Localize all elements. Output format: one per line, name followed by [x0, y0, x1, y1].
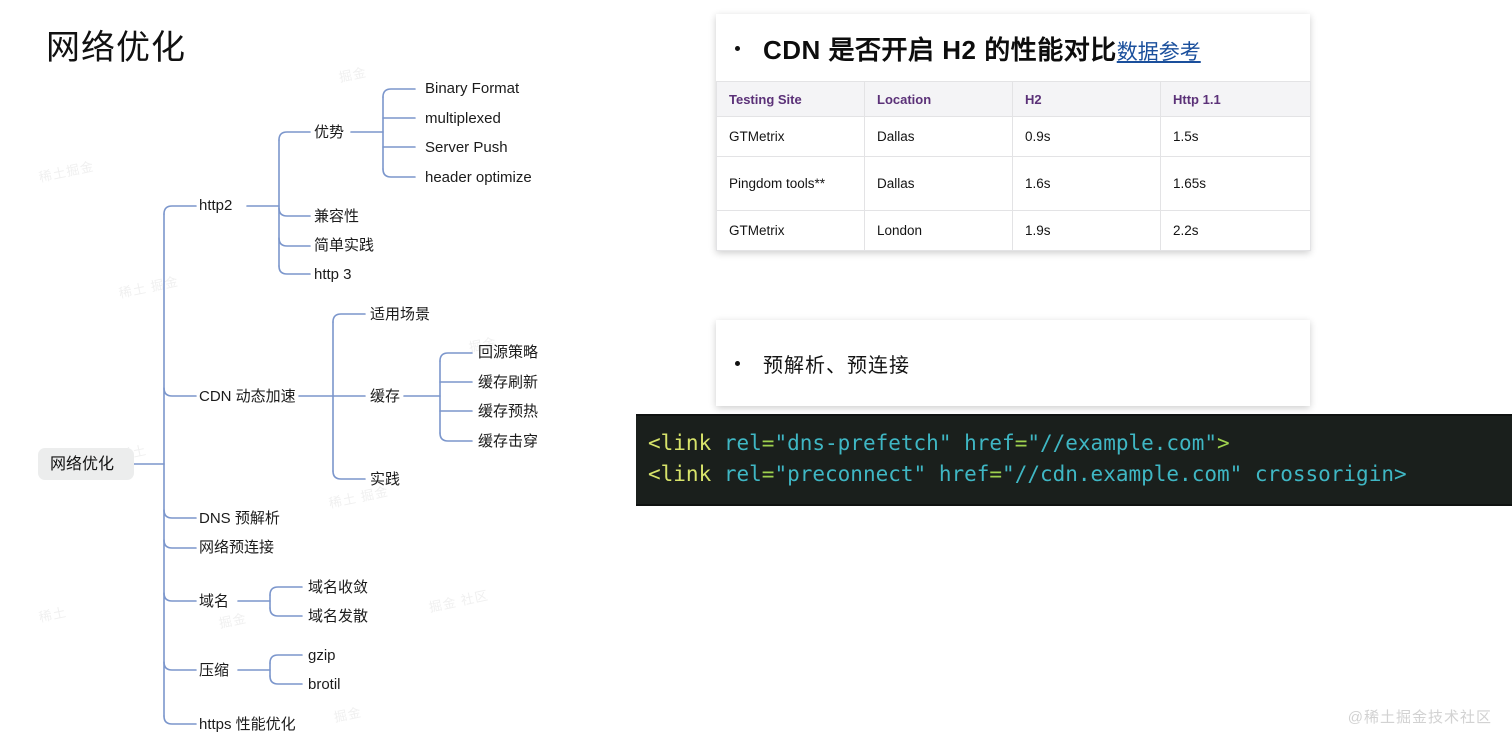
mindmap-node-gzip[interactable]: gzip	[308, 647, 336, 664]
mindmap-node-cdn[interactable]: CDN 动态加速	[199, 388, 296, 405]
mindmap-node-cache-refresh[interactable]: 缓存刷新	[478, 374, 538, 391]
prefetch-card-heading: 预解析、预连接	[716, 320, 1310, 406]
watermark-text: 掘金 社区	[428, 588, 490, 615]
mindmap-node-compatibility[interactable]: 兼容性	[314, 208, 359, 225]
code-token-string: "dns-prefetch"	[774, 431, 951, 455]
table-cell-location: Dallas	[865, 117, 1013, 157]
mindmap-edge	[383, 169, 415, 177]
cdn-card-heading: CDN 是否开启 H2 的性能对比数据参考	[716, 14, 1310, 81]
mindmap-node-http2[interactable]: http2	[199, 197, 232, 214]
data-reference-link[interactable]: 数据参考	[1117, 41, 1201, 64]
mindmap-node-binary-format[interactable]: Binary Format	[425, 80, 520, 97]
code-token-attr: href	[951, 431, 1014, 455]
table-cell-h2: 1.9s	[1013, 211, 1161, 251]
bullet-dot-icon	[735, 361, 740, 366]
code-token-string: "//cdn.example.com"	[1002, 462, 1242, 486]
mindmap-edge	[164, 510, 196, 518]
table-cell-location: Dallas	[865, 157, 1013, 211]
mindmap-node-domain[interactable]: 域名	[199, 593, 229, 610]
mindmap-pane: 网络优化 稀土掘金 稀土 掘金 掘金 稀土 掘金 稀土 掘金 掘金 社区 掘金 …	[0, 0, 640, 741]
cdn-card-heading-text: CDN 是否开启 H2 的性能对比数据参考	[763, 30, 1201, 67]
cdn-comparison-card: CDN 是否开启 H2 的性能对比数据参考 Testing Site Locat…	[716, 14, 1310, 251]
table-cell-http11: 2.2s	[1161, 211, 1311, 251]
mindmap-diagram: 稀土掘金 稀土 掘金 掘金 稀土 掘金 稀土 掘金 掘金 社区 掘金 稀土 掘金	[0, 0, 640, 741]
code-token-tag: <link	[648, 462, 711, 486]
code-line: <link rel="preconnect" href="//cdn.examp…	[636, 459, 1512, 490]
mindmap-edge	[333, 471, 365, 479]
code-token-attr: rel	[711, 431, 762, 455]
mindmap-node-use-cases[interactable]: 适用场景	[370, 306, 430, 323]
mindmap-edge	[279, 208, 310, 216]
code-token-tail: >	[1217, 431, 1230, 455]
bullet-dot-icon	[735, 46, 740, 51]
prefetch-card: 预解析、预连接	[716, 320, 1310, 406]
code-token-attr: rel	[711, 462, 762, 486]
table-row: GTMetrix London 1.9s 2.2s	[717, 211, 1311, 251]
prefetch-card-heading-text: 预解析、预连接	[763, 349, 910, 378]
mindmap-node-domain-diverge[interactable]: 域名发散	[308, 608, 368, 625]
watermark-text: 稀土 掘金	[118, 274, 180, 301]
mindmap-node-multiplexed[interactable]: multiplexed	[425, 110, 501, 127]
code-token-attr: href	[926, 462, 989, 486]
code-token-string: "preconnect"	[774, 462, 926, 486]
table-header-h2: H2	[1013, 82, 1161, 117]
mindmap-node-cache-penetration[interactable]: 缓存击穿	[478, 433, 538, 450]
mindmap-node-advantages[interactable]: 优势	[314, 124, 344, 141]
mindmap-node-cache[interactable]: 缓存	[370, 388, 400, 405]
mindmap-node-server-push[interactable]: Server Push	[425, 139, 508, 156]
table-cell-site: GTMetrix	[717, 211, 865, 251]
table-cell-location: London	[865, 211, 1013, 251]
mindmap-edge	[279, 132, 310, 140]
mindmap-edge	[270, 655, 302, 663]
mindmap-edge	[279, 266, 310, 274]
code-snippet-block: <link rel="dns-prefetch" href="//example…	[636, 414, 1512, 506]
mindmap-node-root[interactable]: 网络优化	[50, 454, 114, 473]
mindmap-edge	[440, 353, 472, 361]
table-cell-h2: 1.6s	[1013, 157, 1161, 211]
mindmap-edge	[270, 676, 302, 684]
table-header-testing-site: Testing Site	[717, 82, 865, 117]
table-header-location: Location	[865, 82, 1013, 117]
mindmap-edge	[164, 540, 196, 548]
table-cell-site: Pingdom tools**	[717, 157, 865, 211]
mindmap-edge	[270, 587, 302, 595]
code-line: <link rel="dns-prefetch" href="//example…	[636, 416, 1512, 459]
performance-table: Testing Site Location H2 Http 1.1 GTMetr…	[716, 81, 1311, 251]
table-cell-h2: 0.9s	[1013, 117, 1161, 157]
mindmap-edge	[270, 608, 302, 616]
code-token-tail: crossorigin>	[1242, 462, 1406, 486]
mindmap-node-header-optimize[interactable]: header optimize	[425, 169, 532, 186]
code-token-equals: =	[762, 431, 775, 455]
code-token-string: "//example.com"	[1027, 431, 1217, 455]
code-token-equals: =	[1015, 431, 1028, 455]
watermark-text: 稀土掘金	[38, 159, 96, 185]
watermark-text: 掘金	[218, 610, 249, 630]
mindmap-edge	[383, 89, 415, 97]
table-row: Pingdom tools** Dallas 1.6s 1.65s	[717, 157, 1311, 211]
mindmap-node-simple-practice[interactable]: 简单实践	[314, 237, 374, 254]
mindmap-node-compress[interactable]: 压缩	[199, 662, 229, 679]
right-pane: CDN 是否开启 H2 的性能对比数据参考 Testing Site Locat…	[640, 0, 1512, 741]
cdn-card-heading-label: CDN 是否开启 H2 的性能对比	[763, 35, 1117, 65]
mindmap-edge	[164, 716, 196, 724]
mindmap-node-https-perf[interactable]: https 性能优化	[199, 716, 296, 733]
mindmap-edge	[164, 388, 196, 396]
code-token-tag: <link	[648, 431, 711, 455]
mindmap-edge	[279, 238, 310, 246]
mindmap-node-domain-converge[interactable]: 域名收敛	[308, 579, 368, 596]
mindmap-edge	[164, 593, 196, 601]
mindmap-edge	[164, 662, 196, 670]
mindmap-node-http3[interactable]: http 3	[314, 266, 352, 283]
mindmap-edge	[333, 314, 365, 322]
mindmap-node-cache-warmup[interactable]: 缓存预热	[478, 403, 538, 420]
table-cell-http11: 1.65s	[1161, 157, 1311, 211]
code-token-equals: =	[989, 462, 1002, 486]
table-cell-site: GTMetrix	[717, 117, 865, 157]
footer-watermark: @稀土掘金技术社区	[1348, 706, 1492, 727]
mindmap-edge	[440, 433, 472, 441]
table-cell-http11: 1.5s	[1161, 117, 1311, 157]
mindmap-node-brotil[interactable]: brotil	[308, 676, 341, 693]
mindmap-node-origin-policy[interactable]: 回源策略	[478, 344, 538, 361]
watermark-text: 掘金	[338, 64, 369, 84]
table-row: GTMetrix Dallas 0.9s 1.5s	[717, 117, 1311, 157]
watermark-text: 稀土	[38, 604, 69, 624]
table-header-http11: Http 1.1	[1161, 82, 1311, 117]
mindmap-node-dns-prefetch[interactable]: DNS 预解析	[199, 510, 280, 527]
watermark-text: 掘金	[333, 704, 364, 724]
table-header-row: Testing Site Location H2 Http 1.1	[717, 82, 1311, 117]
mindmap-node-preconnect[interactable]: 网络预连接	[199, 539, 274, 556]
code-token-equals: =	[762, 462, 775, 486]
mindmap-edge	[164, 206, 196, 214]
mindmap-node-practice[interactable]: 实践	[370, 471, 400, 488]
